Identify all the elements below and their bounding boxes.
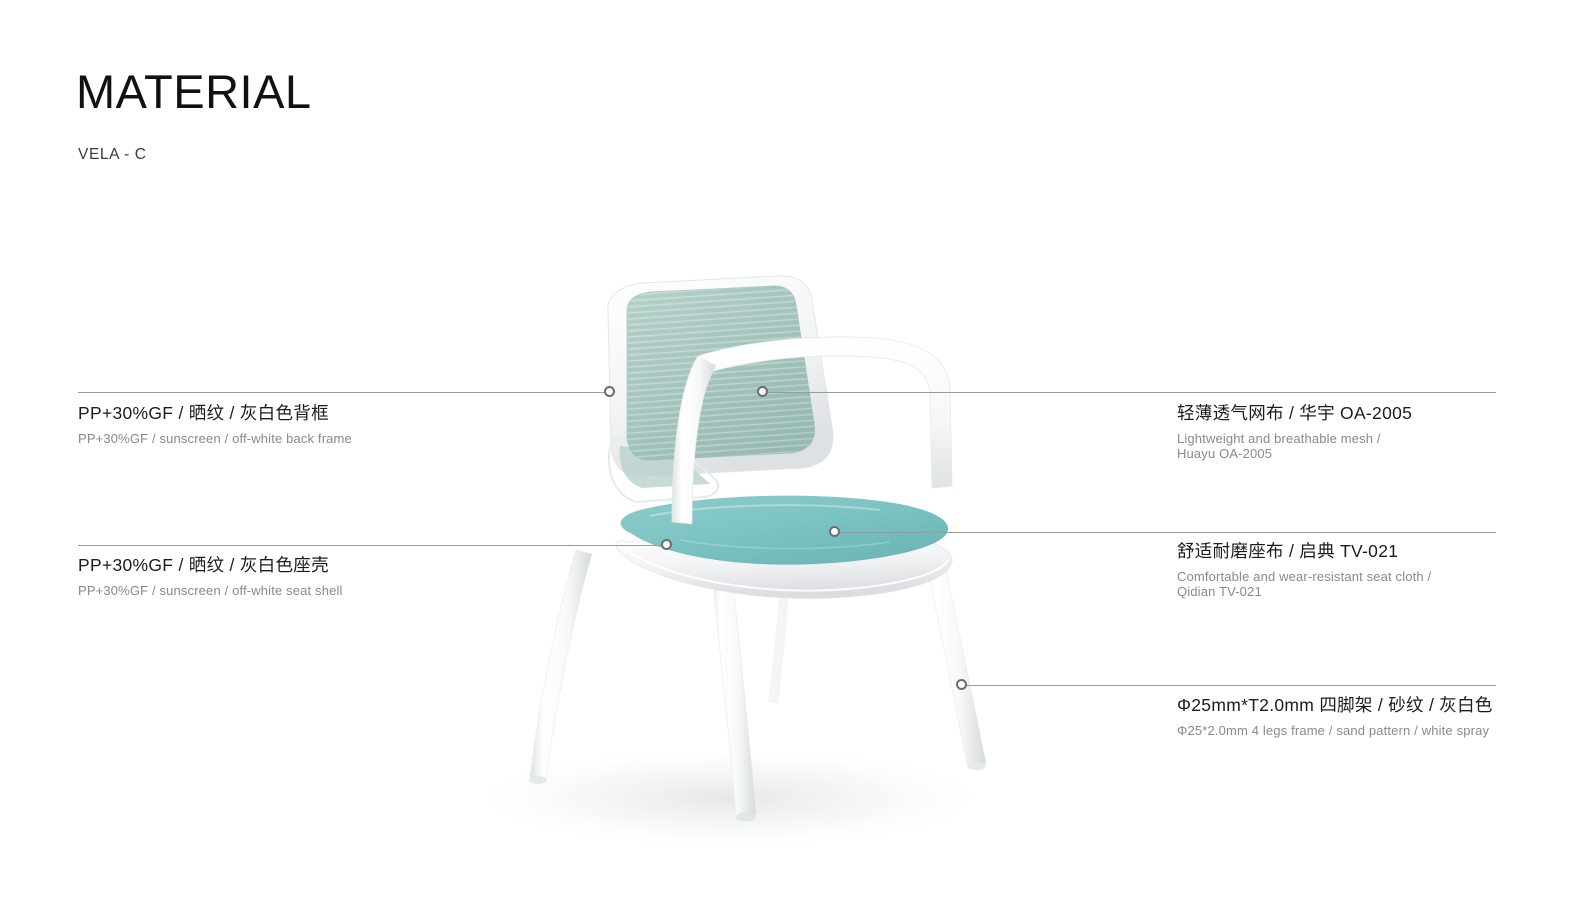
- material-spec-page: MATERIAL VELA - C: [0, 0, 1575, 906]
- callout-legs-frame-cn: Φ25mm*T2.0mm 四脚架 / 砂纹 / 灰白色: [1177, 694, 1493, 717]
- product-model-label: VELA - C: [78, 146, 147, 164]
- callout-seat-cloth-en: Comfortable and wear-resistant seat clot…: [1177, 569, 1431, 600]
- mesh-back-panel: [627, 286, 815, 460]
- leader-line-legs-frame: [962, 685, 1496, 686]
- callout-dot-legs-frame[interactable]: [956, 679, 967, 690]
- page-title: MATERIAL: [76, 68, 312, 115]
- leader-line-mesh: [763, 392, 1496, 393]
- callout-legs-frame: Φ25mm*T2.0mm 四脚架 / 砂纹 / 灰白色 Φ25*2.0mm 4 …: [1177, 694, 1493, 738]
- chair-illustration: [380, 250, 1080, 870]
- callout-dot-back-frame[interactable]: [604, 386, 615, 397]
- callout-back-frame-en: PP+30%GF / sunscreen / off-white back fr…: [78, 431, 352, 446]
- callout-seat-cloth: 舒适耐磨座布 / 启典 TV-021 Comfortable and wear-…: [1177, 540, 1431, 599]
- callout-seat-shell-en: PP+30%GF / sunscreen / off-white seat sh…: [78, 583, 343, 598]
- callout-dot-seat-cloth[interactable]: [829, 526, 840, 537]
- callout-mesh-en: Lightweight and breathable mesh / Huayu …: [1177, 431, 1412, 462]
- chair-product-image: [380, 250, 1080, 870]
- leader-line-back-frame: [78, 392, 610, 393]
- callout-seat-cloth-cn: 舒适耐磨座布 / 启典 TV-021: [1177, 540, 1431, 563]
- callout-seat-shell-cn: PP+30%GF / 晒纹 / 灰白色座壳: [78, 554, 343, 577]
- callout-seat-shell: PP+30%GF / 晒纹 / 灰白色座壳 PP+30%GF / sunscre…: [78, 554, 343, 598]
- leader-line-seat-shell: [78, 545, 667, 546]
- callout-dot-seat-shell[interactable]: [661, 539, 672, 550]
- callout-mesh-cn: 轻薄透气网布 / 华宇 OA-2005: [1177, 402, 1412, 425]
- callout-dot-mesh[interactable]: [757, 386, 768, 397]
- callout-back-frame: PP+30%GF / 晒纹 / 灰白色背框 PP+30%GF / sunscre…: [78, 402, 352, 446]
- callout-back-frame-cn: PP+30%GF / 晒纹 / 灰白色背框: [78, 402, 352, 425]
- callout-mesh: 轻薄透气网布 / 华宇 OA-2005 Lightweight and brea…: [1177, 402, 1412, 461]
- callout-legs-frame-en: Φ25*2.0mm 4 legs frame / sand pattern / …: [1177, 723, 1493, 738]
- leader-line-seat-cloth: [835, 532, 1496, 533]
